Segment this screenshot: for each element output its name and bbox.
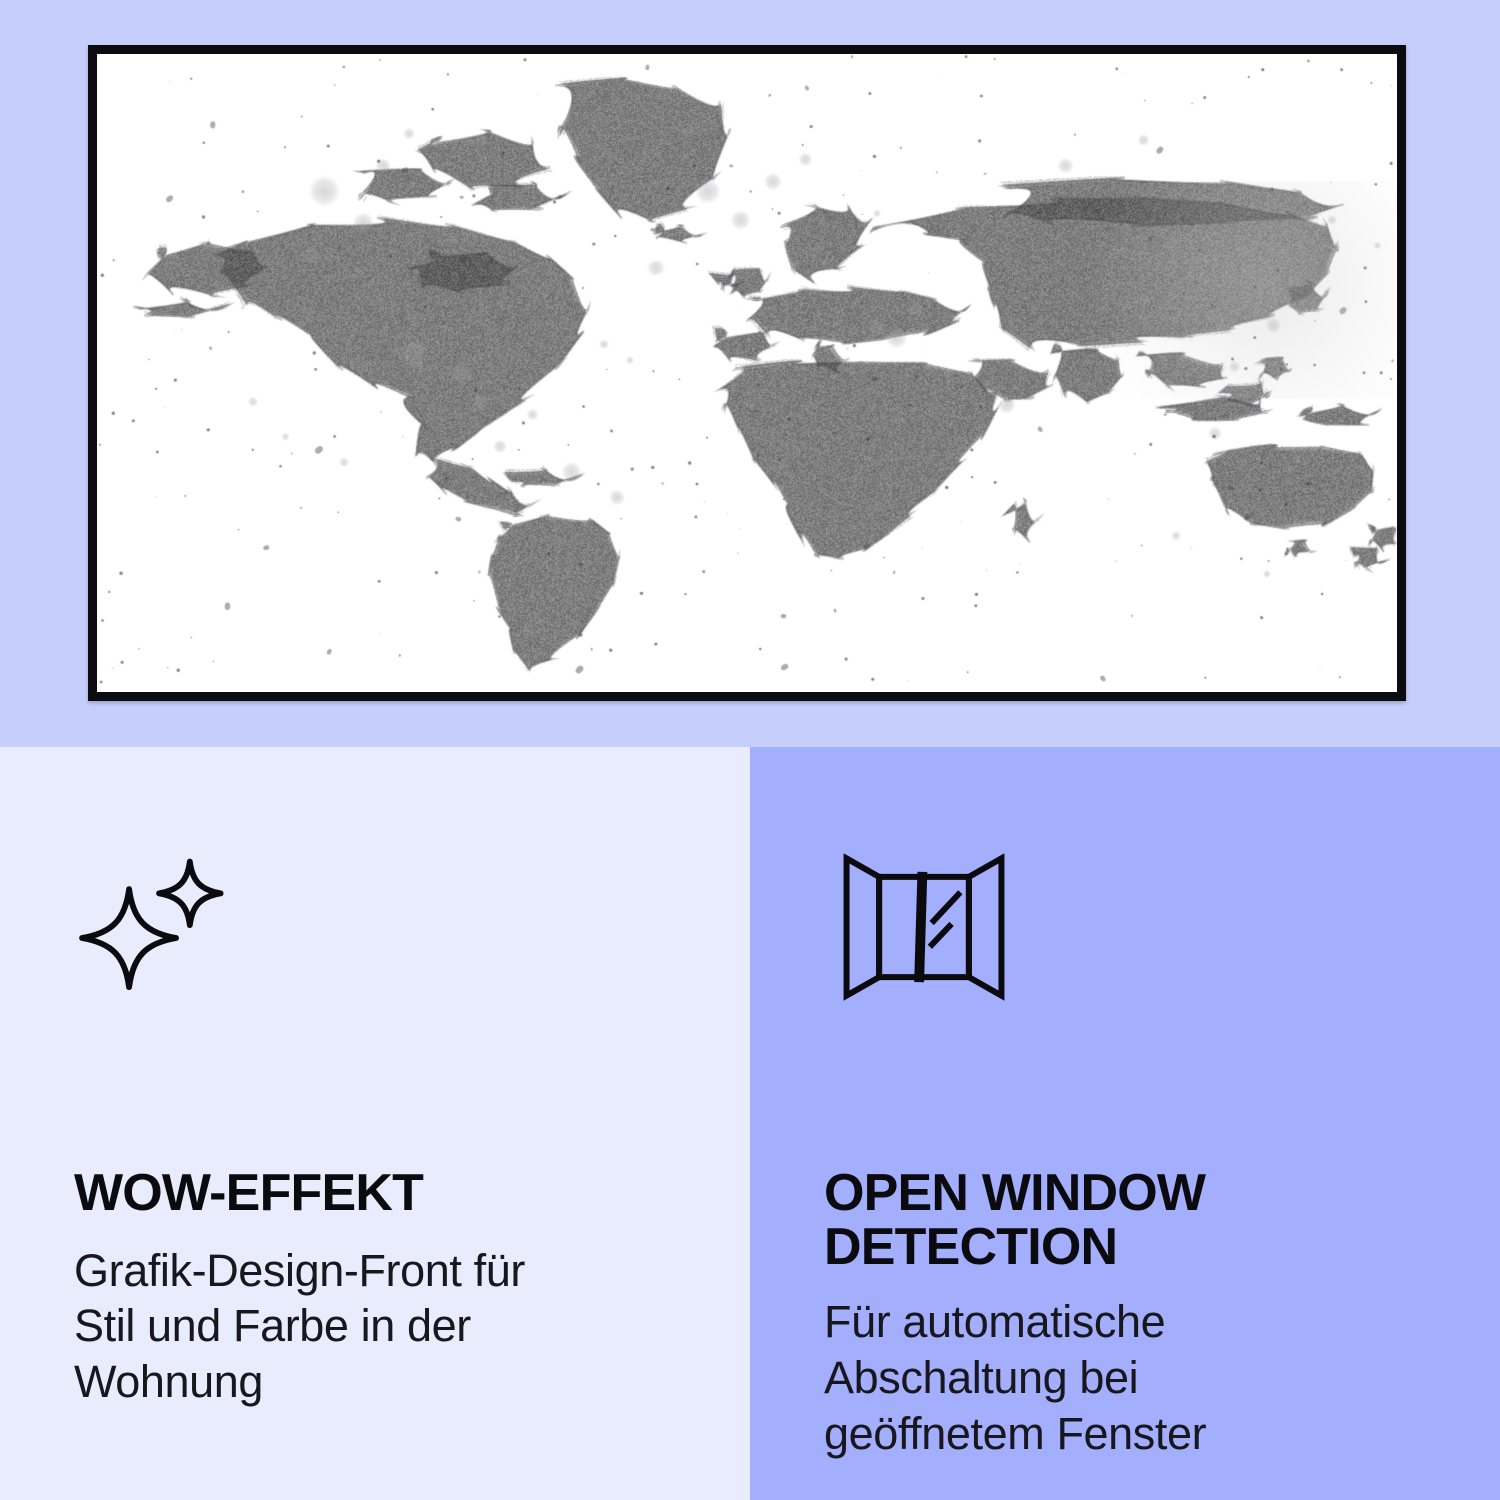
sparkle-icon bbox=[74, 847, 236, 1009]
feature-title: WOW-EFFEKT bbox=[74, 1167, 634, 1221]
feature-panel-open-window-detection: OPEN WINDOW DETECTION Für automatische A… bbox=[750, 747, 1500, 1500]
feature-description: Grafik-Design-Front für Stil und Farbe i… bbox=[74, 1243, 594, 1410]
open-window-icon bbox=[836, 839, 1012, 1015]
hero-poster-section bbox=[0, 0, 1500, 747]
world-map-artwork bbox=[97, 54, 1397, 692]
picture-frame bbox=[88, 45, 1406, 701]
product-feature-graphic: WOW-EFFEKT Grafik-Design-Front für Stil … bbox=[0, 0, 1500, 1500]
feature-panel-wow-effekt: WOW-EFFEKT Grafik-Design-Front für Stil … bbox=[0, 747, 750, 1500]
feature-description: Für automatische Abschaltung bei geöffne… bbox=[824, 1294, 1364, 1461]
feature-panels: WOW-EFFEKT Grafik-Design-Front für Stil … bbox=[0, 747, 1500, 1500]
feature-title: OPEN WINDOW DETECTION bbox=[824, 1167, 1384, 1274]
